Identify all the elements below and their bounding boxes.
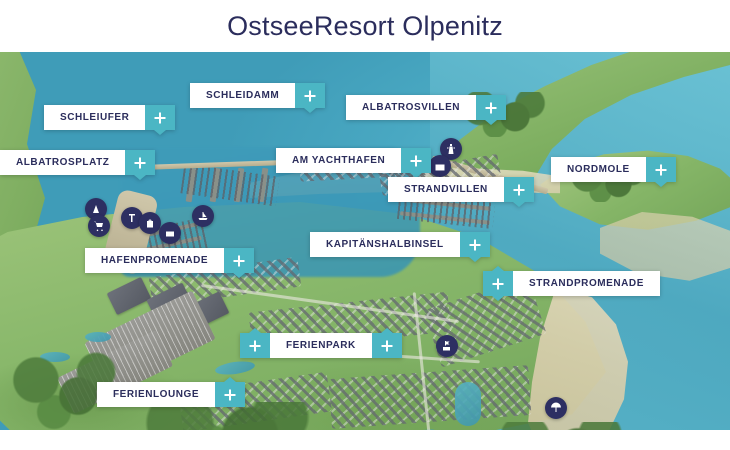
sport-icon [90, 203, 102, 215]
playground-icon [441, 340, 453, 352]
hotspot-label: STRANDVILLEN [388, 177, 504, 202]
plus-icon[interactable] [215, 382, 245, 407]
shopping-bag-icon [144, 217, 156, 229]
hotspot-label: HAFENPROMENADE [85, 248, 224, 273]
hotspot-label: SCHLEIUFER [44, 105, 145, 130]
pond [85, 332, 111, 342]
harbour-building-icon [434, 160, 446, 172]
plus-icon[interactable] [401, 148, 431, 173]
hotspot-schleidamm[interactable]: SCHLEIDAMM [190, 83, 325, 108]
poi-playground-marker[interactable] [436, 335, 458, 357]
hotspot-albatrosvillen[interactable]: ALBATROSVILLEN [346, 95, 506, 120]
poi-beach-marker[interactable] [545, 397, 567, 419]
plus-icon-right[interactable] [372, 333, 402, 358]
poi-services-marker[interactable] [159, 222, 181, 244]
hotspot-label: ALBATROSPLATZ [0, 150, 125, 175]
hotspot-label: NORDMOLE [551, 157, 646, 182]
plus-icon[interactable] [476, 95, 506, 120]
hotspot-label: SCHLEIDAMM [190, 83, 295, 108]
pond [455, 382, 481, 426]
hotspot-label: FERIENLOUNGE [97, 382, 215, 407]
plus-icon[interactable] [483, 271, 513, 296]
info-icon [126, 212, 138, 224]
poi-marina-marker[interactable] [192, 205, 214, 227]
page-header: OstseeResort Olpenitz [0, 0, 730, 52]
forest-southeast [480, 422, 630, 430]
services-icon [164, 227, 176, 239]
plus-icon[interactable] [125, 150, 155, 175]
plus-icon[interactable] [295, 83, 325, 108]
hotspot-strandpromenade[interactable]: STRANDPROMENADE [483, 271, 660, 296]
plus-icon[interactable] [224, 248, 254, 273]
hotspot-am-yachthafen[interactable]: AM YACHTHAFEN [276, 148, 431, 173]
hotspot-strandvillen[interactable]: STRANDVILLEN [388, 177, 534, 202]
beach-umbrella-icon [550, 402, 562, 414]
plus-icon[interactable] [646, 157, 676, 182]
hotspot-kapitaenshalbinsel[interactable]: KAPITÄNSHALBINSEL [310, 232, 490, 257]
hotspot-label: FERIENPARK [270, 333, 372, 358]
poi-retail-marker[interactable] [139, 212, 161, 234]
poi-shopping-marker[interactable] [88, 215, 110, 237]
hotspot-nordmole[interactable]: NORDMOLE [551, 157, 676, 182]
plus-icon-left[interactable] [240, 333, 270, 358]
lighthouse-icon [445, 143, 457, 155]
plus-icon[interactable] [460, 232, 490, 257]
hotspot-label: STRANDPROMENADE [513, 271, 660, 296]
boat-icon [197, 210, 209, 222]
hotspot-label: ALBATROSVILLEN [346, 95, 476, 120]
page-footer-spacer [0, 430, 730, 450]
hotspot-label: AM YACHTHAFEN [276, 148, 401, 173]
hotspot-schleiufer[interactable]: SCHLEIUFER [44, 105, 175, 130]
hotspot-hafenpromenade[interactable]: HAFENPROMENADE [85, 248, 254, 273]
hotspot-ferienpark[interactable]: FERIENPARK [240, 333, 402, 358]
hotspot-albatrosplatz[interactable]: ALBATROSPLATZ [0, 150, 155, 175]
poi-harbour-marker[interactable] [429, 155, 451, 177]
plus-icon[interactable] [145, 105, 175, 130]
shopping-cart-icon [93, 220, 105, 232]
resort-map[interactable]: SCHLEIUFER SCHLEIDAMM ALBATROSVILLEN ALB… [0, 52, 730, 430]
hotspot-label: KAPITÄNSHALBINSEL [310, 232, 460, 257]
page-title: OstseeResort Olpenitz [227, 11, 503, 42]
plus-icon[interactable] [504, 177, 534, 202]
hotspot-ferienlounge[interactable]: FERIENLOUNGE [97, 382, 245, 407]
